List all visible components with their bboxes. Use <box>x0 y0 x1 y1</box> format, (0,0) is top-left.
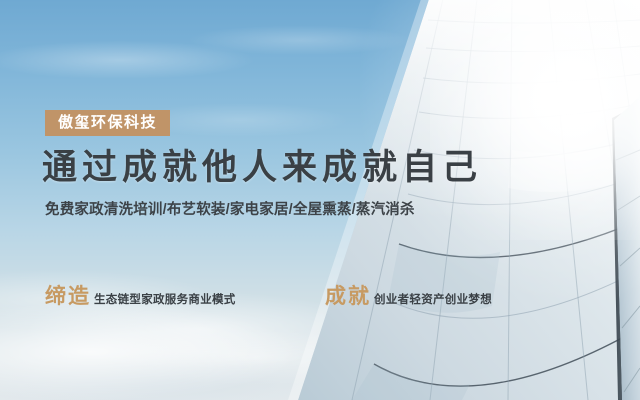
tagline-1-rest: 生态链型家政服务商业模式 <box>94 295 236 307</box>
banner-content: 傲玺环保科技 通过成就他人来成就自己 免费家政清洗培训/布艺软装/家电家居/全屋… <box>0 0 640 400</box>
promo-banner: 傲玺环保科技 通过成就他人来成就自己 免费家政清洗培训/布艺软装/家电家居/全屋… <box>0 0 640 400</box>
tagline-2-rest: 创业者轻资产创业梦想 <box>374 295 492 307</box>
subheadline: 免费家政清洗培训/布艺软装/家电家居/全屋熏蒸/蒸汽消杀 <box>45 198 415 219</box>
headline: 通过成就他人来成就自己 <box>42 148 482 187</box>
tagline-row: 缔造 生态链型家政服务商业模式 成就 创业者轻资产创业梦想 <box>45 286 605 307</box>
brand-badge: 傲玺环保科技 <box>45 110 170 136</box>
tagline-1-lead: 缔造 <box>45 286 91 307</box>
tagline-item-2: 成就 创业者轻资产创业梦想 <box>325 286 492 307</box>
tagline-item-1: 缔造 生态链型家政服务商业模式 <box>45 286 325 307</box>
tagline-2-lead: 成就 <box>325 286 371 307</box>
